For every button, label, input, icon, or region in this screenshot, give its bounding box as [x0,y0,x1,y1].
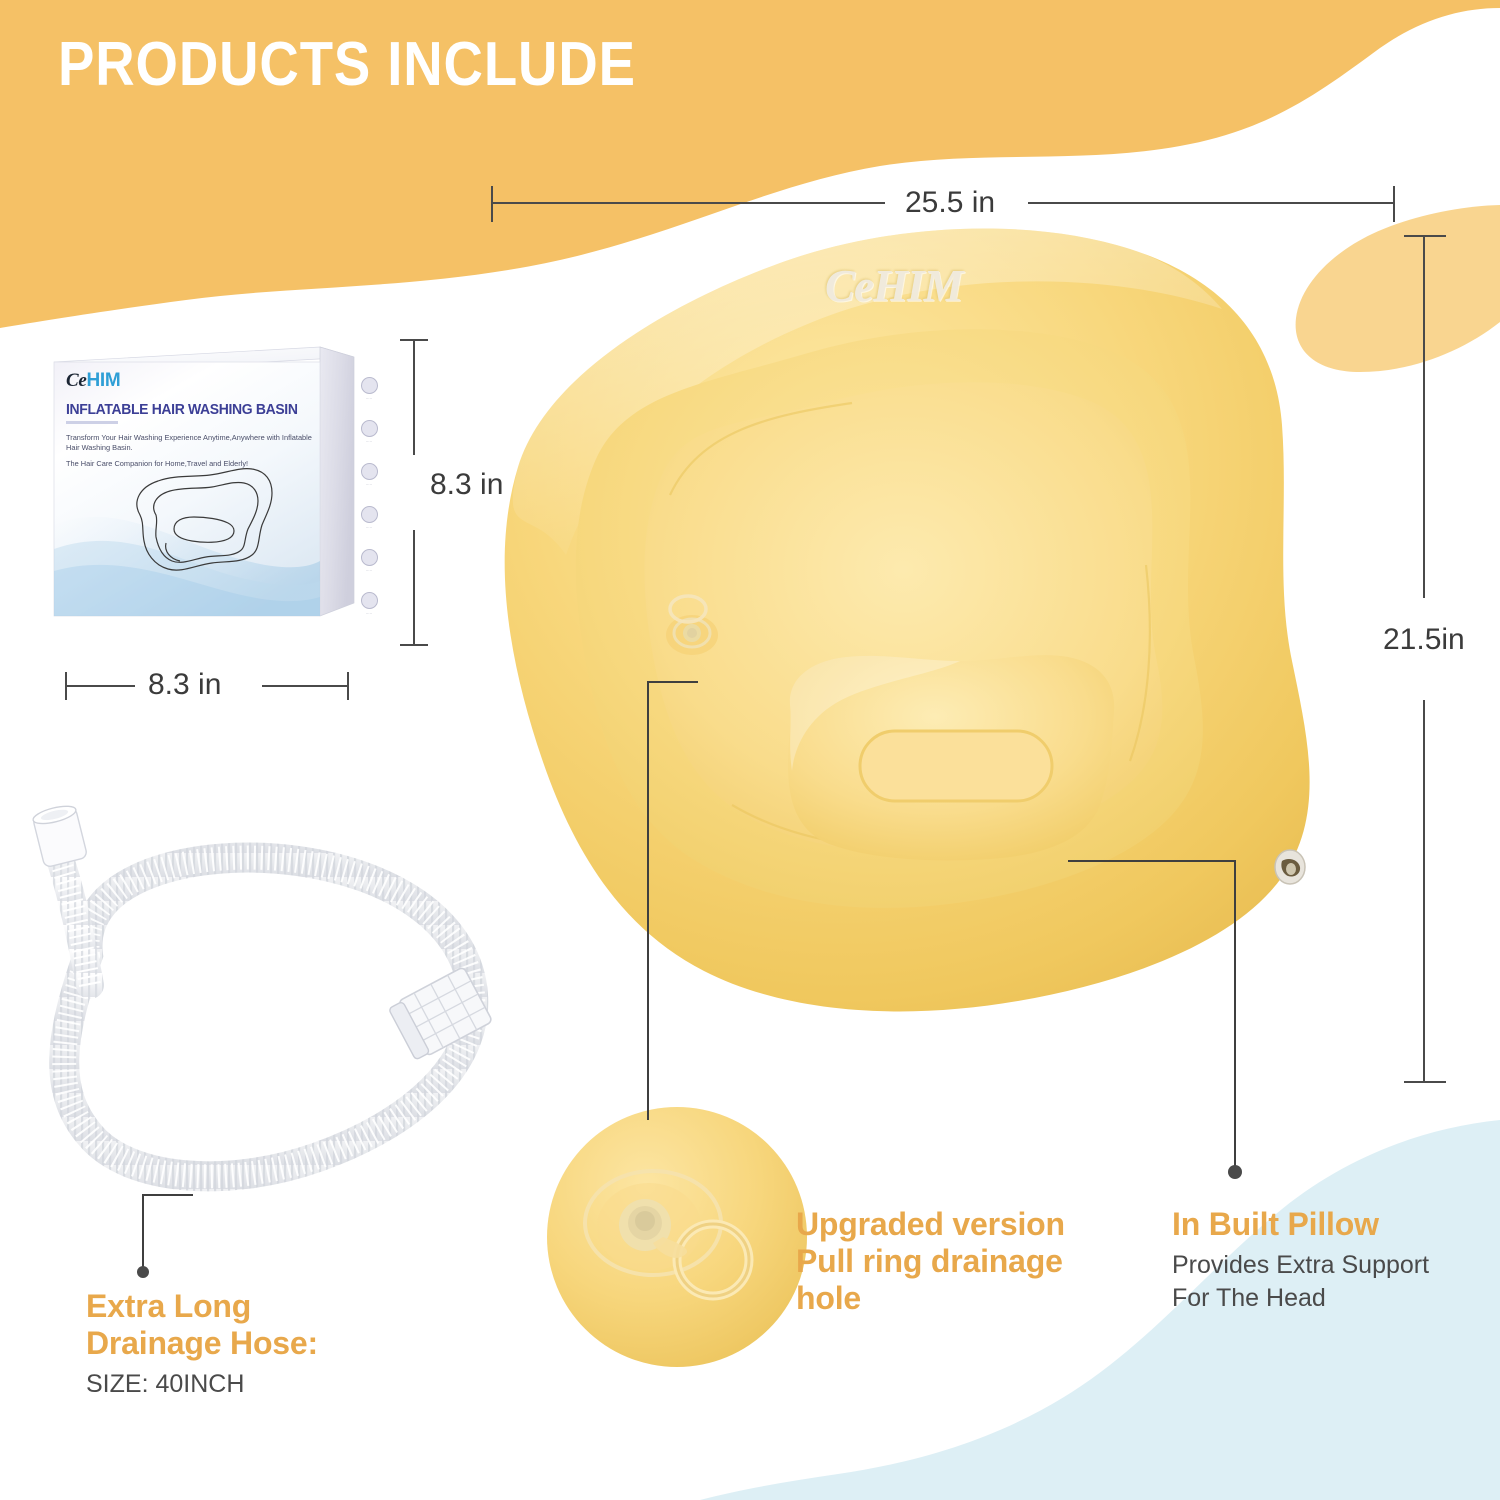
box-side-face [320,347,354,616]
leader-dot-hose [137,1266,149,1278]
feature-icon-3: ····· [350,463,388,506]
basin-shape [470,205,1450,1105]
box-width-label: 8.3 in [148,668,221,702]
inflatable-basin-illustration: CeHIM [470,205,1450,1105]
box-title-rule [66,421,118,424]
basin-height-label: 21.5in [1383,623,1465,657]
drain-hole-zoom-circle [545,1105,810,1370]
built-in-pillow [788,655,1114,860]
feature-icon-3-glyph [361,463,378,480]
pillow-center-channel [860,731,1052,801]
box-height-label: 8.3 in [430,468,503,502]
product-box-illustration: CeHIM INFLATABLE HAIR WASHING BASIN Tran… [48,335,388,660]
feature-icon-4: ····· [350,506,388,549]
box-description: Transform Your Hair Washing Experience A… [66,433,318,469]
callout-extra-long-drainage-hose: Extra Long Drainage Hose: SIZE: 40INCH [86,1288,416,1401]
drain-hole-zoom-shape [545,1105,810,1370]
page-title: PRODUCTS INCLUDE [58,34,636,96]
callout-upgraded-pull-ring-drainage-hole: Upgraded version Pull ring drainage hole [796,1206,1116,1317]
callout-hose-subtext: SIZE: 40INCH [86,1368,416,1401]
hose-shape [18,805,528,1235]
box-description-line-2: The Hair Care Companion for Home,Travel … [66,459,318,469]
callout-pillow-heading: In Built Pillow [1172,1206,1472,1243]
box-brand-logo: CeHIM [66,371,318,390]
feature-icon-5-glyph [361,549,378,566]
feature-icon-6-glyph [361,592,378,609]
callout-in-built-pillow: In Built Pillow Provides Extra Support F… [1172,1206,1472,1314]
air-valve [1275,850,1305,884]
hose-tail [62,865,90,985]
drainage-hose-illustration [18,805,528,1235]
feature-icon-4-glyph [361,506,378,523]
box-description-line-1: Transform Your Hair Washing Experience A… [66,433,318,453]
box-front-text: CeHIM INFLATABLE HAIR WASHING BASIN Tran… [66,371,318,469]
infographic-canvas: PRODUCTS INCLUDE [0,0,1500,1500]
callout-pillow-subtext: Provides Extra Support For The Head [1172,1249,1472,1314]
feature-icon-1-glyph [361,377,378,394]
feature-icon-6: ····· [350,592,388,635]
hose-end-connector [31,805,87,868]
leader-dot-pillow [1228,1165,1242,1179]
basin-logo: CeHIM [825,260,963,312]
box-side-feature-icons: ····· ····· ····· ····· ····· ····· [350,377,388,635]
callout-hose-heading: Extra Long Drainage Hose: [86,1288,416,1362]
feature-icon-2-glyph [361,420,378,437]
box-product-title: INFLATABLE HAIR WASHING BASIN [66,402,310,418]
basin-width-label: 25.5 in [905,186,995,220]
feature-icon-2: ····· [350,420,388,463]
callout-drain-heading: Upgraded version Pull ring drainage hole [796,1206,1116,1317]
feature-icon-5: ····· [350,549,388,592]
feature-icon-1: ····· [350,377,388,420]
